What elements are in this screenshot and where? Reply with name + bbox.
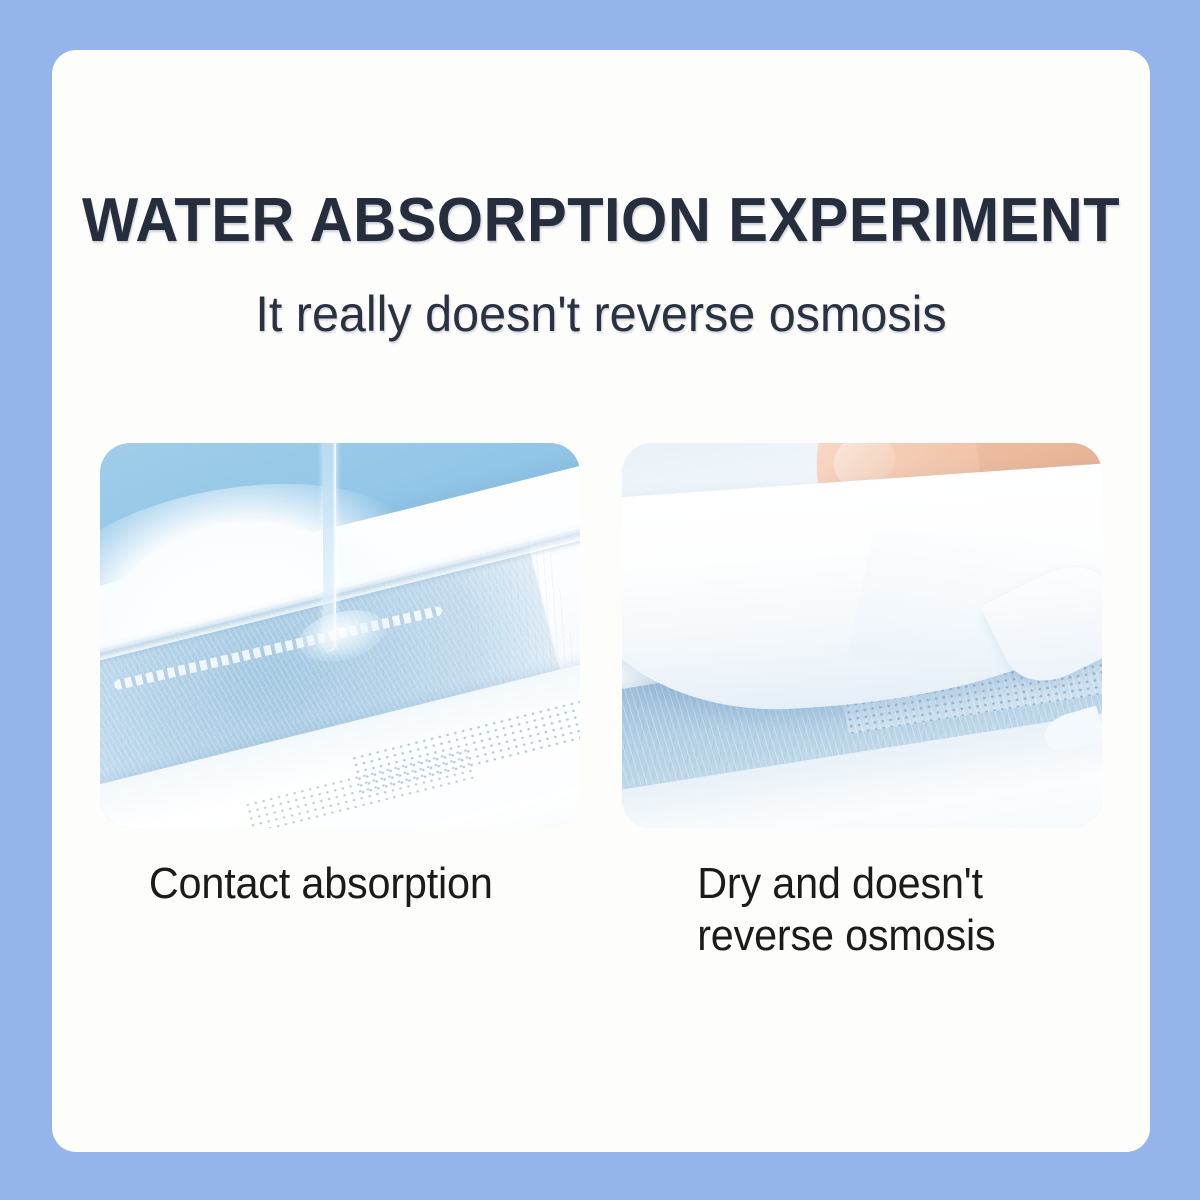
page-title: WATER ABSORPTION EXPERIMENT (74, 190, 1128, 252)
photo-dry-no-reverse-osmosis (622, 443, 1102, 828)
promo-card: WATER ABSORPTION EXPERIMENT It really do… (52, 50, 1150, 1152)
caption-contact-absorption: Contact absorption (100, 858, 551, 998)
caption-row: Contact absorption Dry and doesn't rever… (100, 858, 1108, 998)
caption-line: Contact absorption (149, 858, 551, 910)
page-subtitle: It really doesn't reverse osmosis (68, 288, 1133, 340)
caption-dry-no-reverse-osmosis: Dry and doesn't reverse osmosis (622, 858, 1073, 998)
caption-line: Dry and doesn't (697, 858, 1073, 910)
outer-frame: WATER ABSORPTION EXPERIMENT It really do… (0, 0, 1200, 1200)
photo-row (100, 443, 1108, 828)
caption-line: reverse osmosis (697, 910, 1073, 962)
photo-contact-absorption (100, 443, 580, 828)
